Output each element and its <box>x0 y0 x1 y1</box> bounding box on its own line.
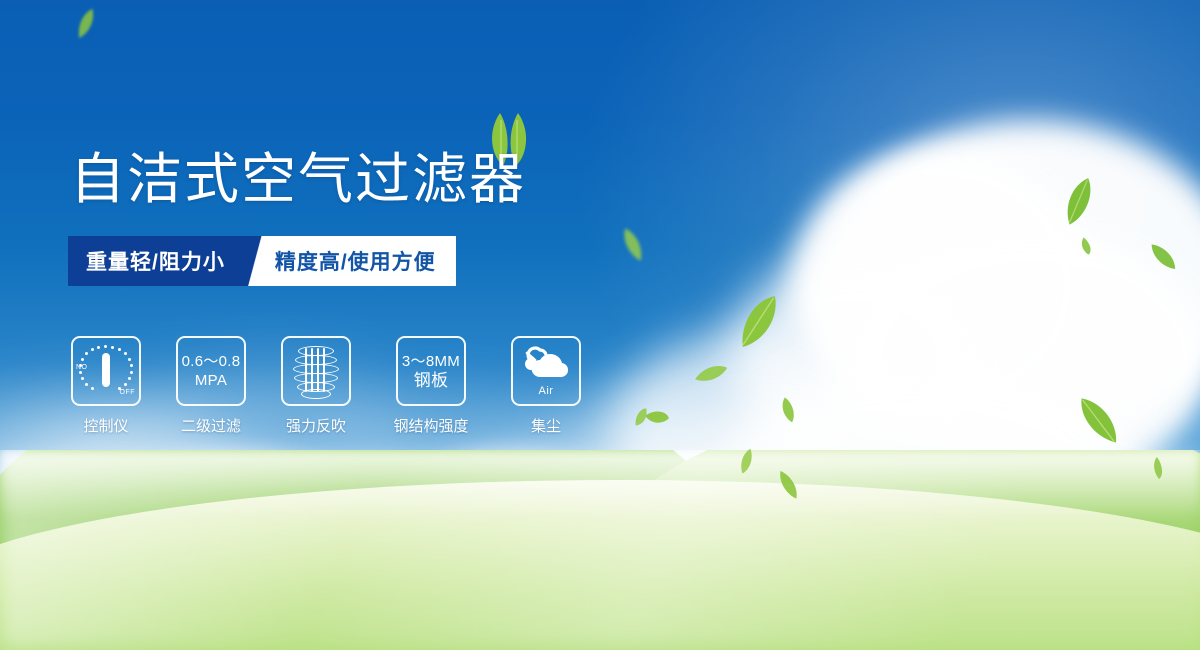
air-cloud-icon <box>518 344 574 384</box>
grass-field <box>0 450 1200 650</box>
air-label: Air <box>539 385 554 397</box>
tagline-left: 重量轻/阻力小 <box>68 236 243 286</box>
feature-label: 强力反吹 <box>286 415 346 436</box>
feature-label: 控制仪 <box>83 415 128 436</box>
feature-icon-box: Air <box>511 336 581 406</box>
feature-list: NO OFF <box>70 336 582 436</box>
grass-horizon-fade <box>0 450 1200 520</box>
page-title: 自洁式空气过滤器 <box>70 146 526 212</box>
feature-item-strong-blowback[interactable]: 强力反吹 <box>280 336 352 436</box>
steel-thickness-text: 3～8MM <box>402 352 460 371</box>
pressure-range-text: 0.6～0.8 <box>182 352 241 371</box>
pulse-filter-icon <box>290 344 342 398</box>
feature-item-control-instrument[interactable]: NO OFF <box>70 336 142 436</box>
pressure-unit-text: MPA <box>195 371 227 390</box>
feature-label: 集尘 <box>531 415 561 436</box>
feature-item-dust-collection[interactable]: Air 集尘 <box>510 336 582 436</box>
feature-item-steel-structure-strength[interactable]: 3～8MM 钢板 钢结构强度 <box>385 336 477 436</box>
feature-item-two-stage-filtration[interactable]: 0.6～0.8 MPA 二级过滤 <box>175 336 247 436</box>
feature-icon-box <box>281 336 351 406</box>
dial-label-off: OFF <box>120 389 136 396</box>
product-hero-banner: 自洁式空气过滤器 重量轻/阻力小 精度高/使用方便 NO OFF <box>0 0 1200 650</box>
tagline-diagonal-divider <box>243 236 269 286</box>
dial-gauge-icon: NO OFF <box>78 344 134 398</box>
dial-pointer <box>102 353 110 387</box>
tagline-right: 精度高/使用方便 <box>269 236 456 286</box>
feature-label: 二级过滤 <box>181 415 241 436</box>
feature-icon-box: 0.6～0.8 MPA <box>176 336 246 406</box>
leaf-icon <box>1151 455 1165 480</box>
tagline-bar: 重量轻/阻力小 精度高/使用方便 <box>68 236 456 286</box>
feature-icon-box: NO OFF <box>71 336 141 406</box>
feature-icon-box: 3～8MM 钢板 <box>396 336 466 406</box>
feature-label: 钢结构强度 <box>393 415 468 436</box>
steel-plate-text: 钢板 <box>414 371 449 390</box>
